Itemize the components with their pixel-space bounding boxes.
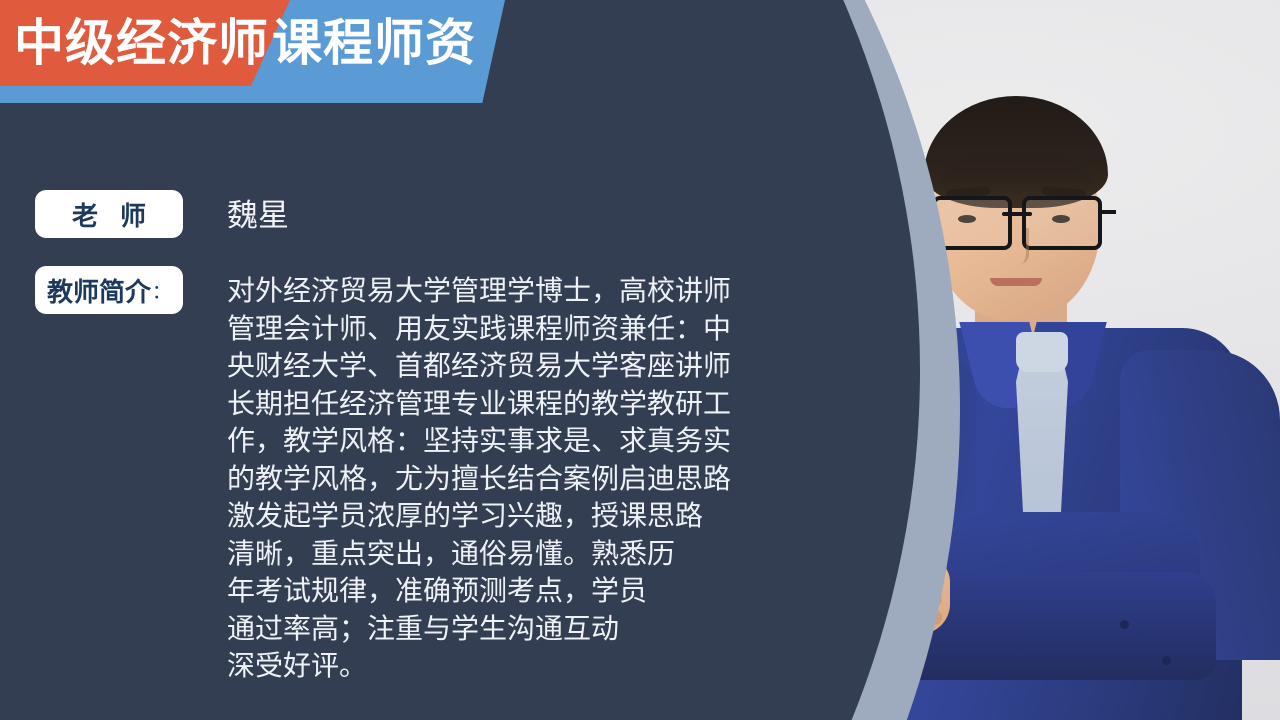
- teacher-biography: 对外经济贸易大学管理学博士，高校讲师 管理会计师、用友实践课程师资兼任：中 央财…: [227, 272, 827, 685]
- header-badge-text: 中级经济师: [14, 12, 269, 74]
- bio-line: 深受好评。: [227, 647, 827, 685]
- teacher-name: 魏星: [227, 196, 289, 236]
- bio-line: 激发起学员浓厚的学习兴趣，授课思路: [227, 497, 827, 535]
- bio-line: 的教学风格，尤为擅长结合案例启迪思路: [227, 460, 827, 498]
- header-title-text: 课程师资: [272, 12, 476, 74]
- bio-line: 长期担任经济管理专业课程的教学教研工: [227, 385, 827, 423]
- intro-label-colon: ：: [152, 277, 171, 304]
- sleeve-button-dot: [1162, 656, 1171, 665]
- mouth-shape: [990, 278, 1042, 286]
- bio-line: 作，教学风格：坚持实事求是、求真务实: [227, 422, 827, 460]
- bio-line: 对外经济贸易大学管理学博士，高校讲师: [227, 272, 827, 310]
- header-ribbon: 中级经济师 课程师资: [0, 0, 560, 110]
- right-lens-shape: [1022, 196, 1102, 250]
- sleeve-button-dot: [1120, 620, 1129, 629]
- bio-line: 通过率高；注重与学生沟通互动: [227, 610, 827, 648]
- teacher-label-pill: 老师: [35, 190, 183, 238]
- bio-line: 年考试规律，准确预测考点，学员: [227, 572, 827, 610]
- instructor-profile-slide: 中级经济师 课程师资 老师 教师简介： 魏星 对外经济贸易大学管理学博士，高校讲…: [0, 0, 1280, 720]
- intro-label-text: 教师简介: [47, 272, 151, 309]
- right-temple-shape: [1100, 210, 1116, 214]
- teacher-label-text: 老师: [50, 196, 168, 233]
- bio-line: 央财经大学、首都经济贸易大学客座讲师: [227, 347, 827, 385]
- bio-line: 清晰，重点突出，通俗易懂。熟悉历: [227, 535, 827, 573]
- glasses-bridge-shape: [1002, 212, 1032, 216]
- bio-line: 管理会计师、用友实践课程师资兼任：中: [227, 310, 827, 348]
- intro-label-pill: 教师简介：: [35, 266, 183, 314]
- nose-shape: [1006, 228, 1029, 264]
- necktie-knot-shape: [1016, 332, 1068, 372]
